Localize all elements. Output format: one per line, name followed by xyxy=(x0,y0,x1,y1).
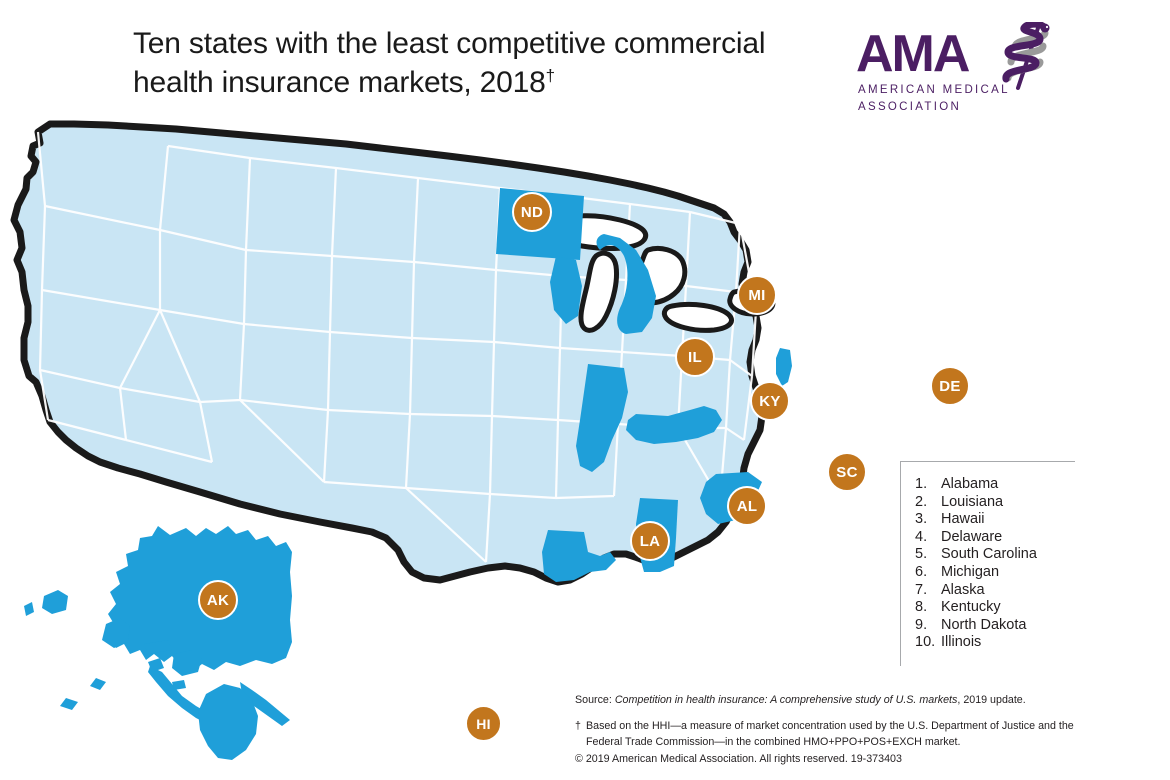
marker-label-de: DE xyxy=(930,366,970,406)
ranked-state-list: 1. Alabama 2. Louisiana 3. Hawaii 4. Del… xyxy=(900,461,1075,666)
island-kauai xyxy=(42,590,68,614)
rank-state: Delaware xyxy=(941,529,1075,547)
list-item: 4. Delaware xyxy=(915,529,1075,547)
footnotes: Source: Competition in health insurance:… xyxy=(575,692,1095,767)
island-kahoolawe xyxy=(172,680,186,690)
lake-erie xyxy=(664,304,731,330)
list-item: 9. North Dakota xyxy=(915,617,1075,635)
list-item: 3. Hawaii xyxy=(915,511,1075,529)
list-item: 8. Kentucky xyxy=(915,599,1075,617)
rank-number: 4. xyxy=(915,529,941,547)
marker-label-al: AL xyxy=(727,486,767,526)
list-item: 6. Michigan xyxy=(915,564,1075,582)
rank-number: 2. xyxy=(915,494,941,512)
rank-state: Kentucky xyxy=(941,599,1075,617)
marker-kentucky[interactable]: KY xyxy=(750,381,790,421)
rank-state: Alabama xyxy=(941,476,1075,494)
rank-number: 6. xyxy=(915,564,941,582)
marker-south-carolina[interactable]: SC xyxy=(827,452,867,492)
marker-label-sc: SC xyxy=(827,452,867,492)
marker-label-ky: KY xyxy=(750,381,790,421)
usa-map-svg xyxy=(0,110,1000,770)
rank-number: 8. xyxy=(915,599,941,617)
list-item: 10. Illinois xyxy=(915,634,1075,652)
rank-number: 5. xyxy=(915,546,941,564)
marker-illinois[interactable]: IL xyxy=(675,337,715,377)
marker-label-nd: ND xyxy=(512,192,552,232)
ama-logo: AMA AMERICAN MEDICAL ASSOCIATION xyxy=(856,22,1056,122)
marker-label-la: LA xyxy=(630,521,670,561)
marker-label-il: IL xyxy=(675,337,715,377)
rank-state: Michigan xyxy=(941,564,1075,582)
list-item: 1. Alabama xyxy=(915,476,1075,494)
marker-label-mi: MI xyxy=(737,275,777,315)
rank-number: 9. xyxy=(915,617,941,635)
island-niihau xyxy=(24,602,34,616)
marker-louisiana[interactable]: LA xyxy=(630,521,670,561)
source-line: Source: Competition in health insurance:… xyxy=(575,692,1095,708)
marker-hawaii[interactable]: HI xyxy=(465,705,502,742)
rank-state: Illinois xyxy=(941,634,1075,652)
source-suffix: , 2019 update. xyxy=(957,694,1025,706)
marker-delaware[interactable]: DE xyxy=(930,366,970,406)
marker-michigan[interactable]: MI xyxy=(737,275,777,315)
page-title-line1: Ten states with the least competitive co… xyxy=(133,27,765,60)
rank-state: Hawaii xyxy=(941,511,1075,529)
usa-map xyxy=(0,110,1000,770)
source-prefix: Source: xyxy=(575,694,615,706)
rank-number: 3. xyxy=(915,511,941,529)
ama-wordmark: AMA xyxy=(856,28,968,80)
rank-state: South Carolina xyxy=(941,546,1075,564)
title-dagger: † xyxy=(546,66,555,85)
marker-alaska[interactable]: AK xyxy=(198,580,238,620)
state-alaska xyxy=(60,526,292,726)
rank-state: Alaska xyxy=(941,582,1075,600)
page-title: Ten states with the least competitive co… xyxy=(133,24,853,102)
rank-state: Louisiana xyxy=(941,494,1075,512)
dagger-note: † Based on the HHI—a measure of market c… xyxy=(575,719,1095,750)
copyright-line: © 2019 American Medical Association. All… xyxy=(575,751,1095,767)
list-item: 7. Alaska xyxy=(915,582,1075,600)
marker-label-ak: AK xyxy=(198,580,238,620)
rank-state: North Dakota xyxy=(941,617,1075,635)
rank-number: 10. xyxy=(915,634,941,652)
aesculapius-staff-icon xyxy=(978,22,1056,92)
list-item: 2. Louisiana xyxy=(915,494,1075,512)
marker-alabama[interactable]: AL xyxy=(727,486,767,526)
marker-label-hi: HI xyxy=(465,705,502,742)
source-title: Competition in health insurance: A compr… xyxy=(615,694,958,706)
page-title-line2: health insurance markets, 2018 xyxy=(133,66,546,99)
dagger-text: Based on the HHI—a measure of market con… xyxy=(586,719,1095,750)
infographic-root: Ten states with the least competitive co… xyxy=(0,0,1170,780)
list-item: 5. South Carolina xyxy=(915,546,1075,564)
rank-number: 1. xyxy=(915,476,941,494)
marker-north-dakota[interactable]: ND xyxy=(512,192,552,232)
dagger-symbol: † xyxy=(575,719,586,750)
rank-number: 7. xyxy=(915,582,941,600)
alaska-region xyxy=(60,526,292,726)
